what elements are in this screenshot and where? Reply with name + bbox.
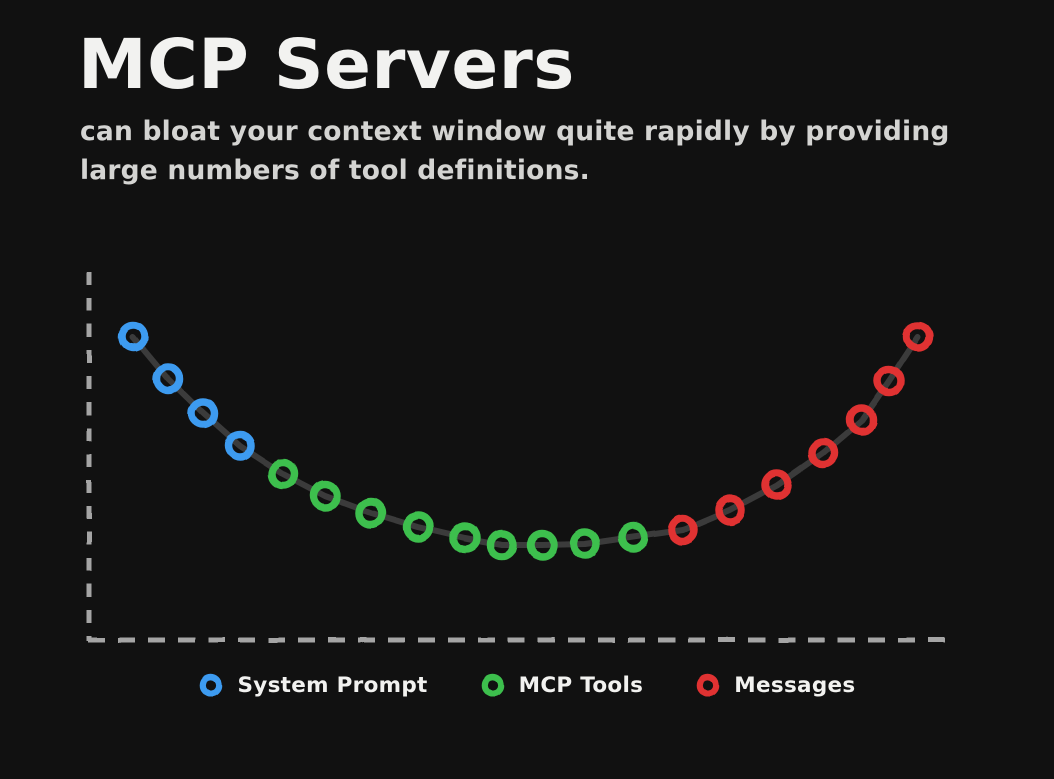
data-point-marker	[531, 534, 554, 557]
data-point-marker	[812, 442, 835, 465]
legend-item-mcp-tools[interactable]: MCP Tools	[480, 672, 644, 698]
data-point-marker	[719, 499, 742, 522]
slide-root: MCP Servers can bloat your context windo…	[0, 0, 1054, 779]
heading-block: MCP Servers can bloat your context windo…	[78, 24, 1018, 190]
legend-label: MCP Tools	[519, 673, 644, 698]
legend-label: Messages	[734, 673, 855, 698]
data-point-markers	[122, 326, 930, 557]
data-point-marker	[360, 502, 383, 525]
data-point-marker	[454, 527, 477, 550]
data-point-marker	[672, 519, 695, 542]
data-point-marker	[907, 326, 930, 349]
data-point-marker	[272, 463, 295, 486]
data-point-marker	[229, 435, 252, 458]
data-point-marker	[491, 534, 514, 557]
chart-axes	[88, 272, 956, 641]
ring-marker-icon	[480, 672, 506, 698]
data-point-marker	[851, 409, 874, 432]
data-point-marker	[622, 526, 645, 549]
data-point-marker	[192, 402, 215, 425]
legend-item-system-prompt[interactable]: System Prompt	[198, 672, 427, 698]
data-point-marker	[766, 474, 789, 497]
ring-marker-icon	[198, 672, 224, 698]
data-point-marker	[407, 516, 430, 539]
data-point-marker	[157, 368, 180, 391]
page-title: MCP Servers	[78, 24, 1018, 106]
page-subtitle: can bloat your context window quite rapi…	[80, 112, 960, 190]
data-point-marker	[122, 326, 145, 349]
data-point-marker	[314, 485, 337, 508]
data-point-marker	[878, 370, 901, 393]
ring-marker-icon	[695, 672, 721, 698]
legend-item-messages[interactable]: Messages	[695, 672, 855, 698]
series-connecting-line	[133, 337, 918, 545]
legend-label: System Prompt	[237, 673, 427, 698]
chart-legend: System Prompt MCP Tools Messages	[0, 672, 1054, 698]
data-point-marker	[574, 533, 597, 556]
